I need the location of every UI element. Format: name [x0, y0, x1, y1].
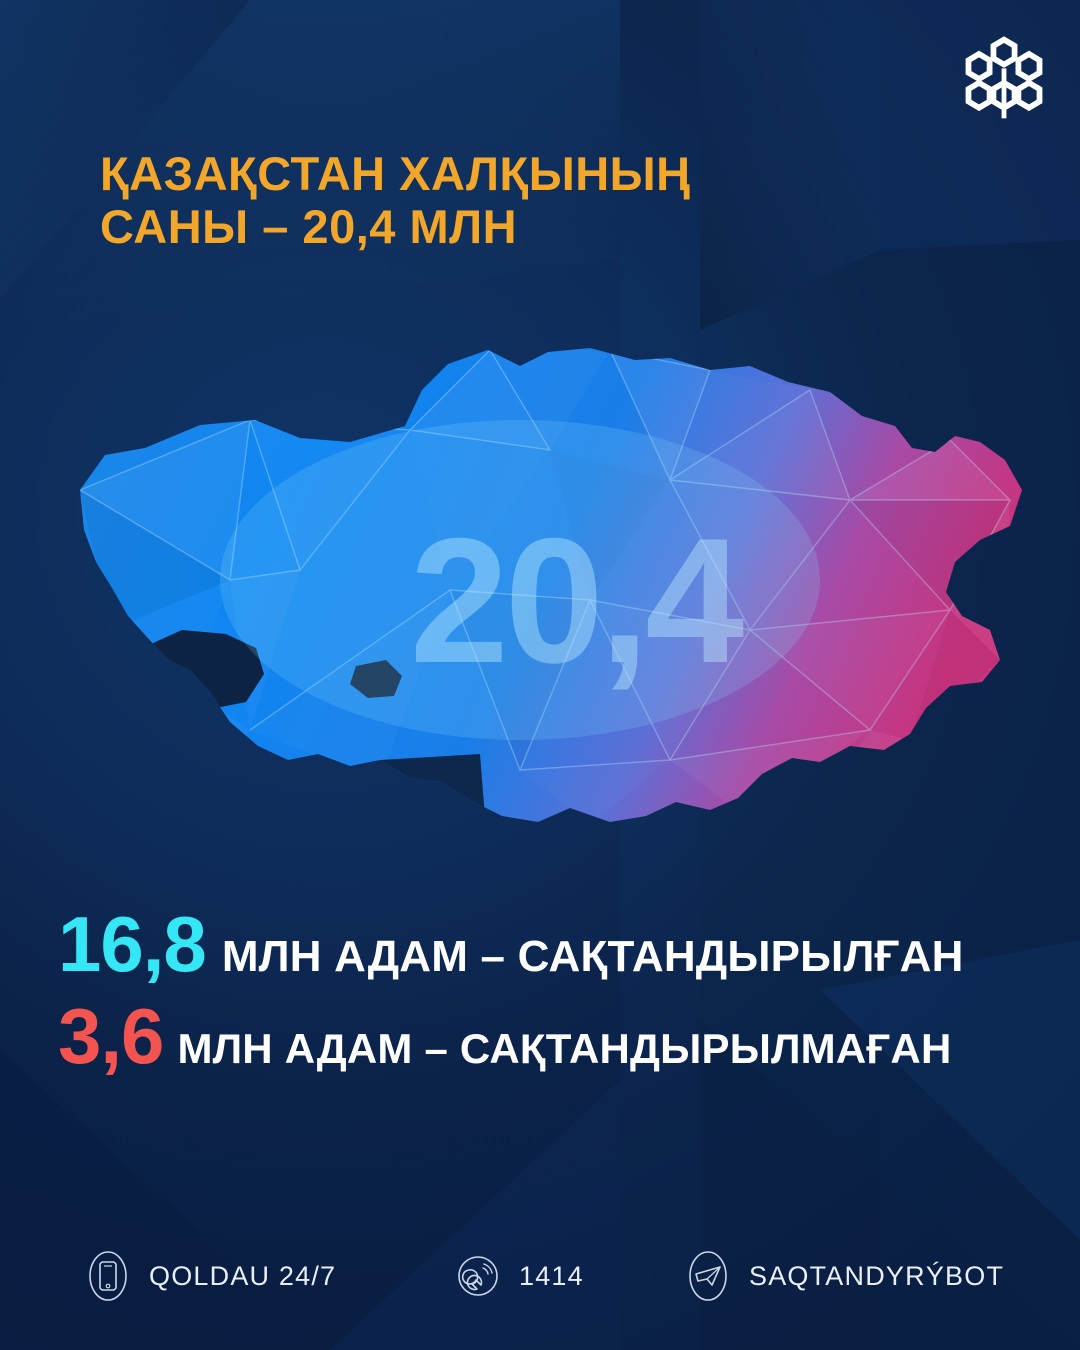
kazakhstan-map: 20,4	[50, 330, 1040, 870]
footer-contacts: QOLDAU 24/7 1414 SAQTANDYRÝBOT	[85, 1250, 1015, 1302]
footer-label-hotline: 1414	[519, 1261, 584, 1292]
stat-value-insured: 16,8	[58, 905, 206, 983]
page-title: ҚАЗАҚСТАН ХАЛҚЫНЫҢ САНЫ – 20,4 МЛН	[100, 148, 920, 253]
footer-item-telegram-bot[interactable]: SAQTANDYRÝBOT	[685, 1250, 1015, 1302]
footer-label-telegram-bot: SAQTANDYRÝBOT	[749, 1261, 1004, 1292]
statistics-block: 16,8 МЛН АДАМ – САҚТАНДЫРЫЛҒАН 3,6 МЛН А…	[58, 905, 1048, 1089]
footer-item-hotline[interactable]: 1414	[455, 1250, 685, 1302]
telegram-plane-icon	[685, 1250, 731, 1302]
footer-label-qoldau: QOLDAU 24/7	[149, 1261, 336, 1292]
footer-item-qoldau[interactable]: QOLDAU 24/7	[85, 1250, 455, 1302]
stat-label-insured: МЛН АДАМ – САҚТАНДЫРЫЛҒАН	[222, 935, 964, 979]
stat-row-uninsured: 3,6 МЛН АДАМ – САҚТАНДЫРЫЛМАҒАН	[58, 997, 1048, 1075]
stat-row-insured: 16,8 МЛН АДАМ – САҚТАНДЫРЫЛҒАН	[58, 905, 1048, 983]
snowflake-icon	[956, 30, 1052, 126]
mobile-phone-icon	[85, 1250, 131, 1302]
kazakhstan-map-svg	[50, 330, 1040, 870]
infographic-poster: ҚАЗАҚСТАН ХАЛҚЫНЫҢ САНЫ – 20,4 МЛН	[0, 0, 1080, 1350]
snowflake-emblem-logo	[956, 30, 1052, 126]
stat-label-uninsured: МЛН АДАМ – САҚТАНДЫРЫЛМАҒАН	[177, 1028, 951, 1070]
stat-value-uninsured: 3,6	[58, 997, 163, 1075]
phone-call-icon	[455, 1250, 501, 1302]
